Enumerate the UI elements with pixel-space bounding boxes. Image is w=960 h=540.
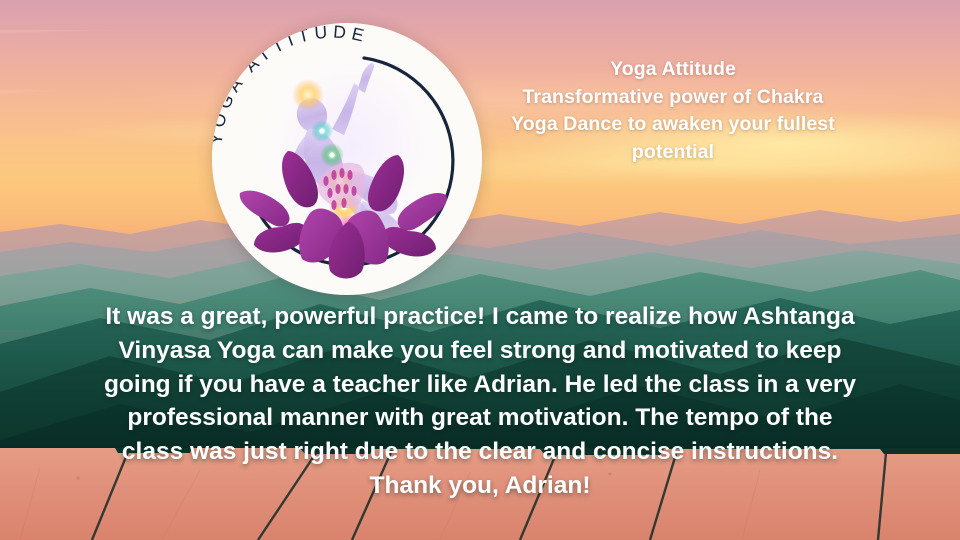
testimonial-block: It was a great, powerful practice! I cam… bbox=[48, 300, 912, 503]
headline-block: Yoga Attitude Transformative power of Ch… bbox=[492, 56, 854, 167]
testimonial-line-3: going if you have a teacher like Adrian.… bbox=[48, 368, 912, 402]
headline-line-2: Transformative power of Chakra bbox=[492, 84, 854, 112]
poster-canvas: YOGA ATTITUDE bbox=[0, 0, 960, 540]
testimonial-line-4: professional manner with great motivatio… bbox=[48, 401, 912, 435]
yoga-attitude-logo-badge[interactable]: YOGA ATTITUDE bbox=[212, 23, 482, 295]
testimonial-line-6: Thank you, Adrian! bbox=[48, 469, 912, 503]
testimonial-line-5: class was just right due to the clear an… bbox=[48, 435, 912, 469]
headline-line-3: Yoga Dance to awaken your fullest bbox=[492, 111, 854, 139]
testimonial-line-2: Vinyasa Yoga can make you feel strong an… bbox=[48, 334, 912, 368]
headline-line-4: potential bbox=[492, 139, 854, 167]
headline-line-1: Yoga Attitude bbox=[492, 56, 854, 84]
testimonial-line-1: It was a great, powerful practice! I cam… bbox=[48, 300, 912, 334]
